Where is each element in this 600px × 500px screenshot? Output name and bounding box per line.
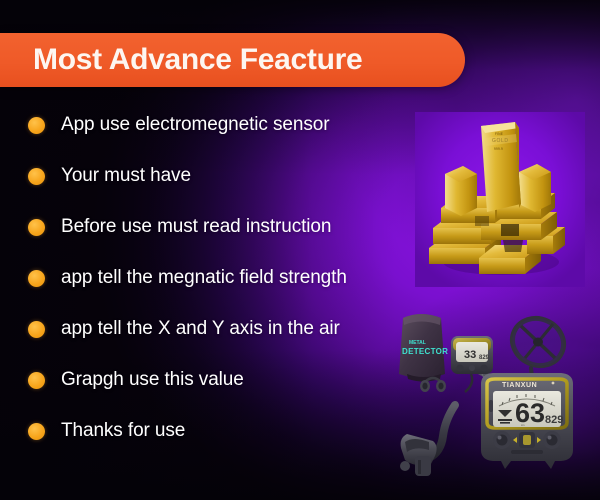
gold-stamp-fine: FINE [495, 132, 503, 136]
main-display-sub: 829 [545, 414, 563, 426]
secondary-display-sub: 829 [479, 355, 490, 361]
main-display-value: 63 [515, 398, 545, 428]
list-item: App use electromegnetic sensor [28, 110, 448, 140]
bullet-dot-icon [28, 321, 45, 338]
main-display-unit: cm [521, 424, 524, 427]
feature-label: Grapgh use this value [61, 369, 244, 391]
metal-detector-image: METAL DETECTOR [385, 300, 600, 490]
promo-screen: Most Advance Feacture App use electromeg… [0, 0, 600, 500]
bag-label-line2: DETECTOR [402, 347, 448, 356]
main-control-housing: TIANXUN [481, 373, 573, 469]
gold-bar-right-angled [519, 164, 551, 212]
feature-label: app tell the megnatic field strength [61, 267, 347, 289]
feature-label: Thanks for use [61, 420, 185, 442]
feature-label: app tell the X and Y axis in the air [61, 318, 340, 340]
bullet-dot-icon [28, 219, 45, 236]
armrest [400, 434, 437, 476]
feature-label: App use electromegnetic sensor [61, 114, 329, 136]
title-banner: Most Advance Feacture [0, 33, 465, 87]
gold-stamp-purity: 999.9 [494, 147, 503, 151]
bullet-dot-icon [28, 372, 45, 389]
gold-bars-image: FINE GOLD 999.9 [415, 112, 585, 287]
carry-bag: METAL DETECTOR [399, 314, 448, 392]
gold-bar-left-angled [445, 166, 477, 216]
list-item: Your must have [28, 161, 448, 191]
bullet-dot-icon [28, 270, 45, 287]
bullet-dot-icon [28, 168, 45, 185]
feature-label: Your must have [61, 165, 191, 187]
brand-label: TIANXUN [502, 382, 537, 389]
list-item: app tell the megnatic field strength [28, 263, 448, 293]
page-title: Most Advance Feacture [33, 43, 362, 77]
secondary-display-value: 33 [464, 349, 476, 361]
bullet-dot-icon [28, 423, 45, 440]
bullet-dot-icon [28, 117, 45, 134]
feature-label: Before use must read instruction [61, 216, 331, 238]
gold-bar-standing-center: FINE GOLD 999.9 [481, 122, 521, 212]
bag-label-line1: METAL [409, 340, 426, 346]
list-item: Before use must read instruction [28, 212, 448, 242]
